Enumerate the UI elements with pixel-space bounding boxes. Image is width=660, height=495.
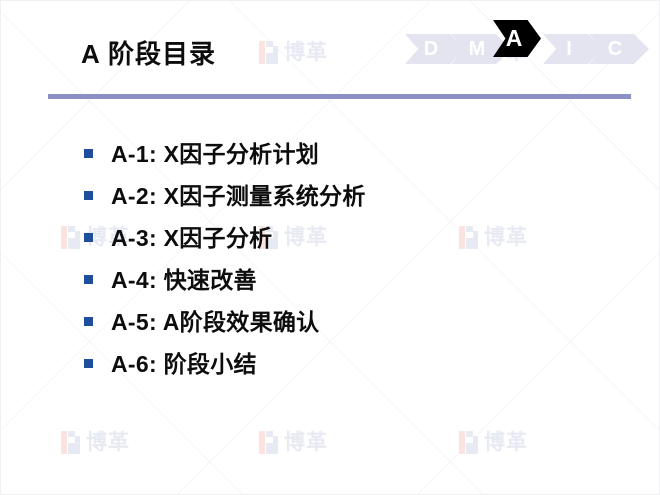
watermark-logo: 博革 [259, 431, 328, 454]
title-divider-rule [48, 94, 631, 99]
agenda-item-label: A-4: 快速改善 [111, 261, 257, 295]
watermark-text: 博革 [284, 432, 328, 453]
agenda-item-label: A-6: 阶段小结 [111, 345, 257, 379]
agenda-item[interactable]: A-4: 快速改善 [84, 257, 366, 299]
square-bullet-icon [84, 233, 93, 242]
watermark-text: 博革 [86, 432, 130, 453]
agenda-item[interactable]: A-3: X因子分析 [84, 215, 366, 257]
agenda-item[interactable]: A-6: 阶段小结 [84, 341, 366, 383]
agenda-item[interactable]: A-1: X因子分析计划 [84, 131, 366, 173]
agenda-item-label: A-2: X因子测量系统分析 [111, 177, 366, 211]
boge-logo-icon [61, 431, 80, 454]
dmaic-phase-banner: DMAIC [405, 34, 657, 64]
agenda-item-label: A-3: X因子分析 [111, 219, 272, 253]
watermark-logo: 博革 [459, 226, 528, 249]
boge-logo-icon [459, 226, 478, 249]
boge-logo-icon [459, 431, 478, 454]
watermark-logo: 博革 [459, 431, 528, 454]
slide-canvas: 博革博革博革博革博革博革博革博革 A 阶段目录 DMAIC A-1: X因子分析… [0, 0, 660, 495]
watermark-logo: 博革 [61, 431, 130, 454]
watermark-text: 博革 [284, 42, 328, 63]
boge-logo-icon [259, 431, 278, 454]
square-bullet-icon [84, 191, 93, 200]
page-title: A 阶段目录 [81, 34, 216, 71]
agenda-item[interactable]: A-2: X因子测量系统分析 [84, 173, 366, 215]
watermark-logo: 博革 [259, 41, 328, 64]
square-bullet-icon [84, 317, 93, 326]
agenda-item[interactable]: A-5: A阶段效果确认 [84, 299, 366, 341]
agenda-item-label: A-1: X因子分析计划 [111, 135, 319, 169]
square-bullet-icon [84, 359, 93, 368]
agenda-item-label: A-5: A阶段效果确认 [111, 303, 319, 337]
boge-logo-icon [61, 226, 80, 249]
square-bullet-icon [84, 275, 93, 284]
watermark-text: 博革 [484, 432, 528, 453]
boge-logo-icon [259, 41, 278, 64]
watermark-text: 博革 [484, 227, 528, 248]
agenda-list: A-1: X因子分析计划A-2: X因子测量系统分析A-3: X因子分析A-4:… [84, 131, 366, 383]
square-bullet-icon [84, 149, 93, 158]
